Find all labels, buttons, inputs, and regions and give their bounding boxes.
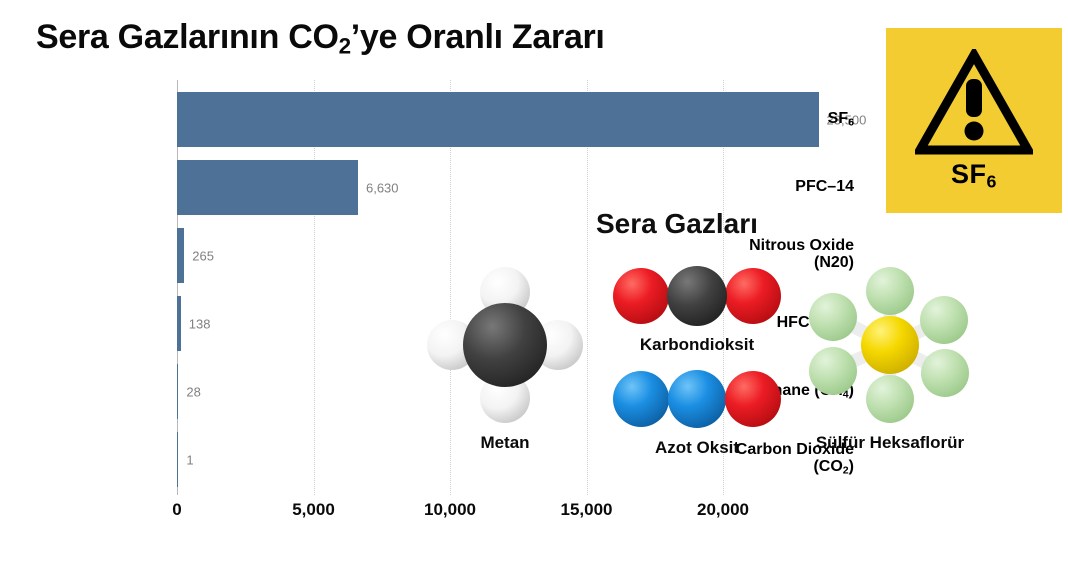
- molecule-karbondioksit-label: Karbondioksit: [640, 335, 754, 355]
- gases-heading: Sera Gazları: [596, 208, 758, 240]
- x-axis-tick-label: 20,000: [697, 500, 749, 520]
- molecule-metan-figure: [425, 265, 585, 430]
- chart-bar-value-label: 265: [192, 248, 214, 263]
- warning-sign-label: SF6: [951, 159, 997, 192]
- chart-bar[interactable]: [177, 296, 181, 351]
- x-axis-tick-label: 0: [172, 500, 181, 520]
- molecule-metan-label: Metan: [480, 433, 529, 453]
- page-title-subscript: 2: [339, 34, 351, 59]
- x-axis-tick-label: 10,000: [424, 500, 476, 520]
- chart-bar[interactable]: [177, 432, 178, 487]
- page-title: Sera Gazlarının CO2’ye Oranlı Zararı: [36, 18, 605, 60]
- chart-bar-value-label: 6,630: [366, 180, 399, 195]
- molecule-azot-oksit-figure: [612, 368, 782, 435]
- chart-bar-value-label: 28: [186, 384, 200, 399]
- warning-sign-label-subscript: 6: [987, 171, 997, 191]
- x-axis-tick-label: 5,000: [292, 500, 335, 520]
- chart-category-label: PFC–14: [685, 178, 860, 195]
- chart-category-label: SF6: [685, 110, 860, 129]
- molecule-sulfur-heksaflorur-figure: [800, 265, 980, 430]
- molecule-azot-oksit: Azot Oksit: [612, 368, 782, 458]
- x-axis-tick-label: 15,000: [561, 500, 613, 520]
- chart-bar-value-label: 1: [186, 452, 193, 467]
- carbon-dioxide-molecule-icon: [612, 265, 782, 327]
- molecule-sulfur-heksaflorur: Sülfür Heksaflorür: [800, 265, 980, 453]
- sf6-warning-sign: SF6: [886, 28, 1062, 213]
- page-title-part2: ’ye Oranlı Zararı: [351, 18, 605, 56]
- sulfur-hexafluoride-molecule-icon: [800, 265, 980, 425]
- molecule-metan: Metan: [425, 265, 585, 453]
- methane-molecule-icon: [425, 265, 585, 425]
- chart-bar[interactable]: [177, 364, 178, 419]
- chart-bar[interactable]: [177, 160, 358, 215]
- chart-bar-value-label: 138: [189, 316, 211, 331]
- warning-triangle-icon: [915, 49, 1033, 157]
- nitrous-oxide-molecule-icon: [612, 368, 782, 430]
- chart-bar[interactable]: [177, 228, 184, 283]
- molecule-karbondioksit-figure: [612, 265, 782, 332]
- warning-sign-label-text: SF: [951, 159, 987, 189]
- molecule-sulfur-heksaflorur-label: Sülfür Heksaflorür: [816, 433, 964, 453]
- page-title-part1: Sera Gazlarının CO: [36, 18, 339, 56]
- molecule-karbondioksit: Karbondioksit: [612, 265, 782, 355]
- molecule-azot-oksit-label: Azot Oksit: [655, 438, 739, 458]
